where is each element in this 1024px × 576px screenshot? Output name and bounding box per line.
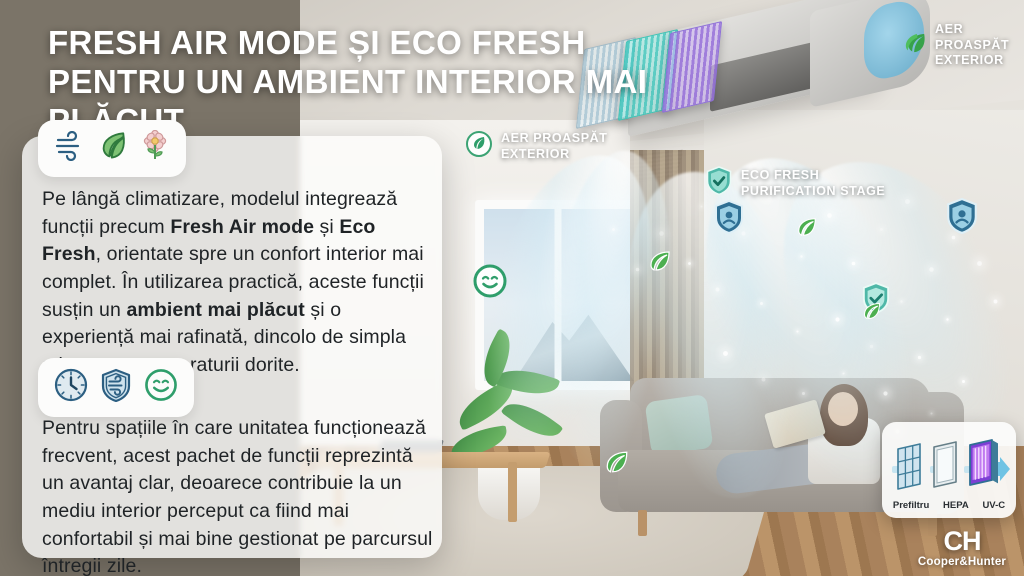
feature-icons-fresh-air xyxy=(38,120,186,177)
sparkle xyxy=(723,351,728,356)
floating-shield-badge xyxy=(714,200,744,239)
paragraph-daily-comfort: Pentru spațiile în care unitatea funcțio… xyxy=(42,415,434,576)
sparkle xyxy=(852,262,856,266)
shield-check-icon xyxy=(706,166,732,201)
leaf-badge-icon xyxy=(466,131,492,162)
sparkle xyxy=(977,261,982,266)
sparkle xyxy=(700,205,702,207)
logo-wordmark: Cooper&Hunter xyxy=(906,556,1018,568)
filter-stage-label-uvc: UV-C xyxy=(982,500,1005,511)
paragraph-fresh-air: Pe lângă climatizare, modelul integrează… xyxy=(42,186,434,380)
sparkle xyxy=(800,255,802,257)
callout-label: ECO FRESH PURIFICATION STAGE xyxy=(741,168,885,199)
sparkle xyxy=(802,392,805,395)
sparkle xyxy=(760,302,763,305)
callout-eco-fresh-stage: ECO FRESH PURIFICATION STAGE xyxy=(706,166,885,201)
sparkle xyxy=(716,288,720,292)
brand-logo: CH Cooper&Hunter xyxy=(906,528,1018,568)
floating-shield-badge xyxy=(946,198,978,239)
filter-stage-diagram xyxy=(886,439,1012,497)
sparkle xyxy=(659,231,664,236)
poster-canvas: FRESH AIR MODE ȘI ECO FRESH PENTRU UN AM… xyxy=(0,0,1024,576)
floating-smiley-badge xyxy=(472,263,508,304)
sparkle xyxy=(918,356,921,359)
air-purification-stages-panel: Prefiltru HEPA UV-C xyxy=(882,422,1016,518)
flower-icon xyxy=(140,130,170,167)
sparkle xyxy=(880,228,883,231)
sparkle xyxy=(994,300,998,304)
clock-icon xyxy=(54,368,88,407)
sparkle xyxy=(900,300,902,302)
filter-stage-label-prefilter: Prefiltru xyxy=(893,500,929,511)
floating-leaf-icon xyxy=(862,301,882,326)
sparkle xyxy=(870,345,873,348)
sparkle xyxy=(796,330,798,332)
leaf-icon xyxy=(904,32,926,59)
logo-mark: CH xyxy=(906,528,1018,555)
sparkle xyxy=(883,391,887,395)
callout-fresh-air-top-right: AER PROASPĂT EXTERIOR xyxy=(904,22,1024,69)
sparkle xyxy=(842,372,844,374)
callout-fresh-air-ceiling: AER PROASPĂT EXTERIOR xyxy=(466,131,608,162)
smiley-icon xyxy=(144,368,178,407)
floating-leaf-icon xyxy=(648,249,672,278)
sparkle xyxy=(962,380,965,383)
leaf-icon xyxy=(100,131,128,166)
sparkle xyxy=(636,268,640,272)
table-leg xyxy=(508,462,517,522)
sofa-leg xyxy=(638,510,647,536)
wind-icon xyxy=(54,131,88,166)
floating-leaf-icon xyxy=(796,216,818,243)
filter-stage-labels: Prefiltru HEPA UV-C xyxy=(886,500,1012,511)
callout-label: AER PROASPĂT EXTERIOR xyxy=(501,131,608,162)
floating-leaf-icon xyxy=(604,449,630,480)
sparkle xyxy=(929,267,934,272)
filter-stage-label-hepa: HEPA xyxy=(943,500,969,511)
sparkle xyxy=(688,262,691,265)
sofa-cushion xyxy=(645,394,714,456)
sparkle xyxy=(946,318,948,320)
sparkle xyxy=(762,378,766,382)
person-head xyxy=(828,392,858,426)
sparkle xyxy=(835,317,839,321)
shield-wind-icon xyxy=(100,368,132,407)
feature-icons-daily-comfort xyxy=(38,358,194,417)
sparkle xyxy=(930,412,932,414)
sparkle xyxy=(905,199,910,204)
sparkle xyxy=(612,228,615,231)
callout-label: AER PROASPĂT EXTERIOR xyxy=(935,22,1024,69)
sparkle xyxy=(827,213,832,218)
